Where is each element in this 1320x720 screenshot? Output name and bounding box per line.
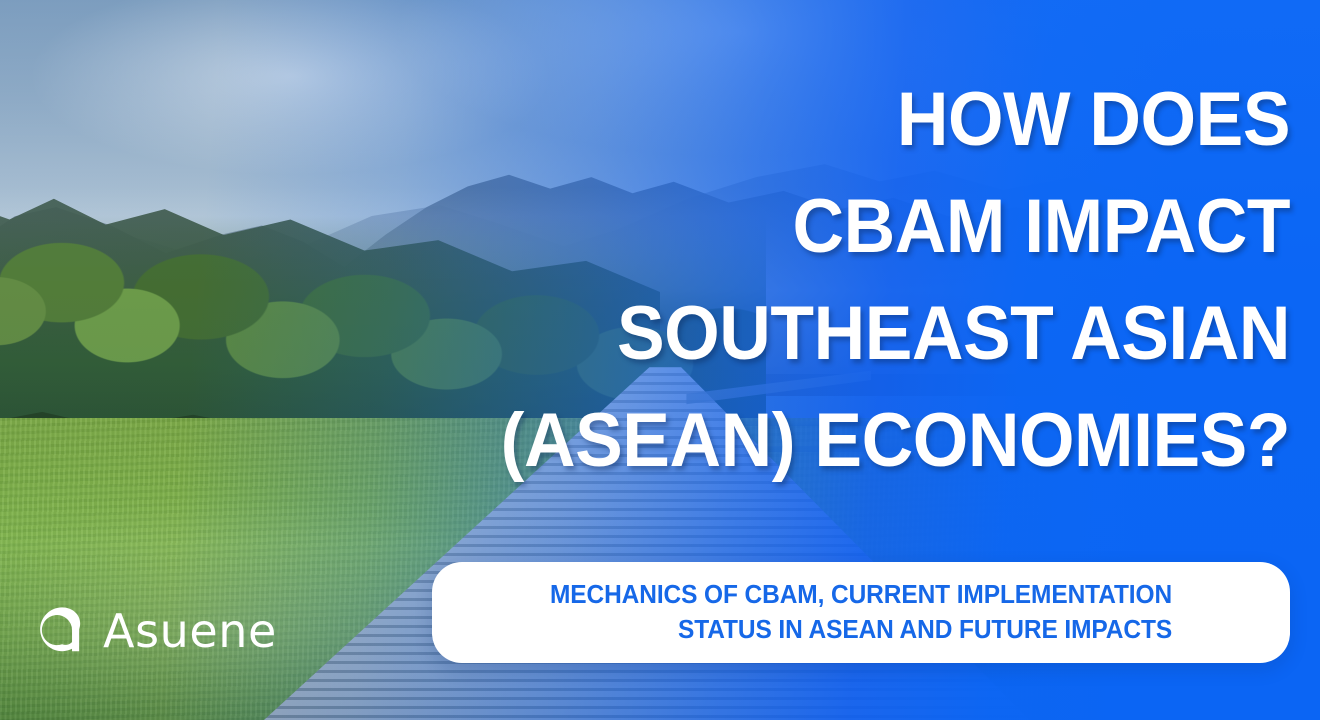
- subtitle-line-1: MECHANICS OF CBAM, CURRENT IMPLEMENTATIO…: [550, 578, 1172, 613]
- page-title-line-2: CBAM IMPACT: [463, 173, 1290, 280]
- hero-banner: HOW DOES CBAM IMPACT SOUTHEAST ASIAN (AS…: [0, 0, 1320, 720]
- brand-logo[interactable]: Asuene: [36, 604, 277, 657]
- subtitle-card: MECHANICS OF CBAM, CURRENT IMPLEMENTATIO…: [432, 562, 1290, 663]
- page-title-line-4: (ASEAN) ECONOMIES?: [463, 387, 1290, 494]
- brand-name: Asuene: [103, 608, 277, 654]
- page-title-line-1: HOW DOES: [463, 66, 1290, 173]
- subtitle-text: MECHANICS OF CBAM, CURRENT IMPLEMENTATIO…: [550, 578, 1172, 648]
- page-title-line-3: SOUTHEAST ASIAN: [463, 280, 1290, 387]
- asuene-a-mark-icon: [36, 604, 89, 657]
- subtitle-line-2: STATUS IN ASEAN AND FUTURE IMPACTS: [550, 613, 1172, 648]
- page-title: HOW DOES CBAM IMPACT SOUTHEAST ASIAN (AS…: [463, 66, 1290, 494]
